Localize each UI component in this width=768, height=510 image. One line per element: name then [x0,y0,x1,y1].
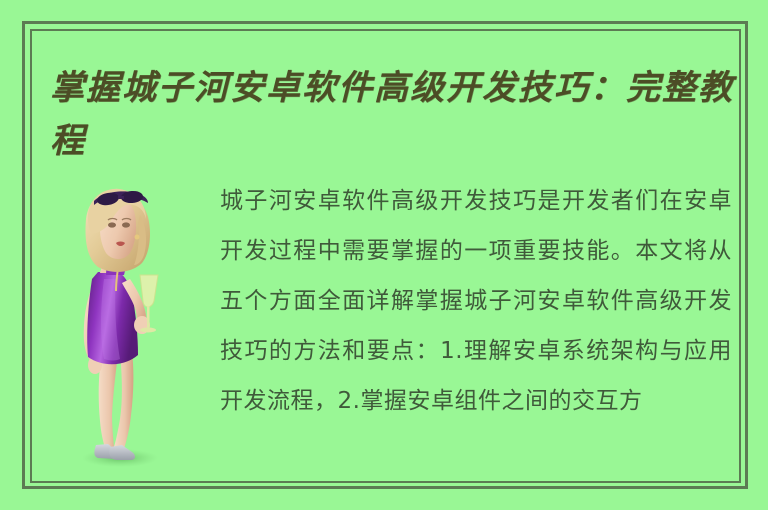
illustration-cartoon-woman [58,175,198,475]
champagne-glass-stem [147,306,150,328]
sunglasses-bridge [118,196,124,199]
right-eye [122,222,130,227]
cartoon-woman-svg [58,175,198,475]
champagne-glass-base [140,328,156,333]
poster-canvas: 掌握城子河安卓软件高级开发技巧：完整教程 [0,0,768,510]
article-body: 城子河安卓软件高级开发技巧是开发者们在安卓开发过程中需要掌握的一项重要技能。本文… [220,176,732,426]
page-title: 掌握城子河安卓软件高级开发技巧：完整教程 [50,62,740,168]
right-leg [114,351,133,449]
earring [135,235,140,240]
left-eye [108,222,116,227]
champagne-glass-bowl [140,275,158,307]
right-shoe [109,445,135,460]
